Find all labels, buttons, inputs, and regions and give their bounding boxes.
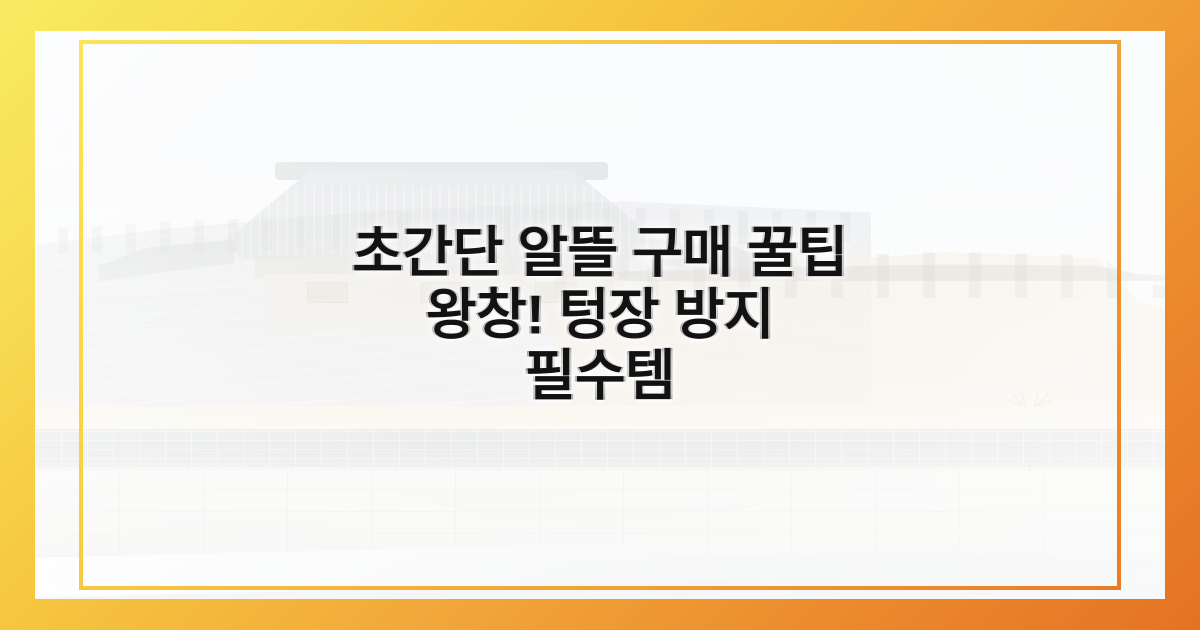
photo-stage: 초간단 알뜰 구매 꿀팁 왕창! 텅장 방지 필수템 [35,31,1165,599]
headline-line-1: 초간단 알뜰 구매 꿀팁 [105,223,1095,285]
headline-line-3: 필수템 [105,346,1095,408]
headline-title: 초간단 알뜰 구매 꿀팁 왕창! 텅장 방지 필수템 [35,223,1165,408]
headline-line-2: 왕창! 텅장 방지 [105,284,1095,346]
thumbnail-card: 초간단 알뜰 구매 꿀팁 왕창! 텅장 방지 필수템 [0,0,1200,630]
